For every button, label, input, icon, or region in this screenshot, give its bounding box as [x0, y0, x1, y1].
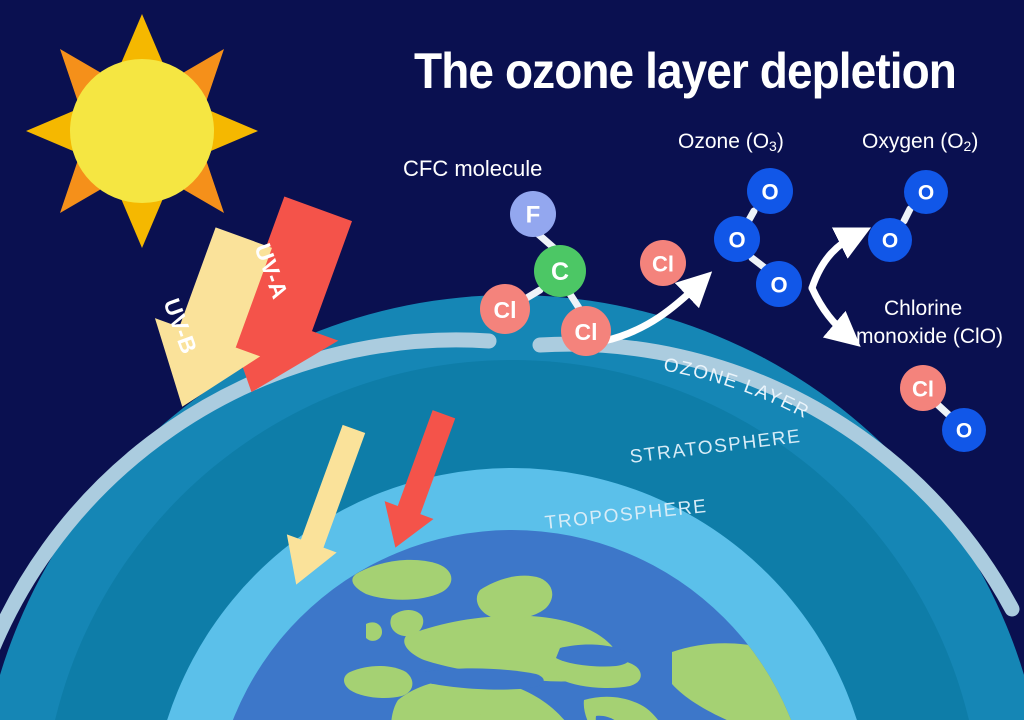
svg-text:Cl: Cl	[575, 319, 598, 345]
svg-text:O: O	[770, 273, 787, 298]
atom-cl-left: Cl	[480, 284, 530, 334]
page-title: The ozone layer depletion	[386, 42, 984, 100]
atom-ozone-bottom: O	[756, 261, 802, 307]
atom-oxygen-bottom: O	[868, 218, 912, 262]
svg-text:Cl: Cl	[912, 377, 934, 402]
atom-cl-lower: Cl	[561, 306, 611, 356]
atom-cl-free: Cl	[640, 240, 686, 286]
atom-f: F	[510, 191, 556, 237]
svg-text:Cl: Cl	[652, 252, 674, 277]
oxygen-molecule-label: Oxygen (O2)	[862, 130, 978, 154]
atom-clo-o: O	[942, 408, 986, 452]
sun-disc	[70, 59, 214, 203]
atom-oxygen-top: O	[904, 170, 948, 214]
oxygen-label-paren: )	[971, 130, 978, 153]
svg-text:O: O	[761, 180, 778, 205]
svg-text:F: F	[526, 202, 541, 229]
ozone-molecule-label: Ozone (O3)	[678, 130, 784, 154]
atom-ozone-top: O	[747, 168, 793, 214]
atom-ozone-middle: O	[714, 216, 760, 262]
svg-text:O: O	[918, 182, 934, 205]
atom-c: C	[534, 245, 586, 297]
chlorine-monoxide-label-line2: monoxide (ClO)	[856, 325, 1003, 349]
svg-text:C: C	[551, 258, 569, 286]
svg-text:O: O	[956, 420, 972, 443]
atom-clo-cl: Cl	[900, 365, 946, 411]
diagram-canvas: F C Cl Cl Cl	[0, 0, 1024, 720]
ozone-label-subscript: 3	[769, 138, 777, 154]
svg-text:O: O	[882, 230, 898, 253]
chlorine-monoxide-label-line1: Chlorine	[884, 297, 962, 321]
svg-text:Cl: Cl	[494, 297, 517, 323]
ozone-label-text: Ozone (O	[678, 130, 769, 153]
oxygen-label-text: Oxygen (O	[862, 130, 964, 153]
ozone-depletion-diagram: F C Cl Cl Cl	[0, 0, 1024, 720]
ozone-label-paren: )	[777, 130, 784, 153]
bond-o-o-top	[749, 211, 754, 220]
svg-text:O: O	[728, 228, 745, 253]
cfc-molecule-label: CFC molecule	[403, 156, 542, 182]
